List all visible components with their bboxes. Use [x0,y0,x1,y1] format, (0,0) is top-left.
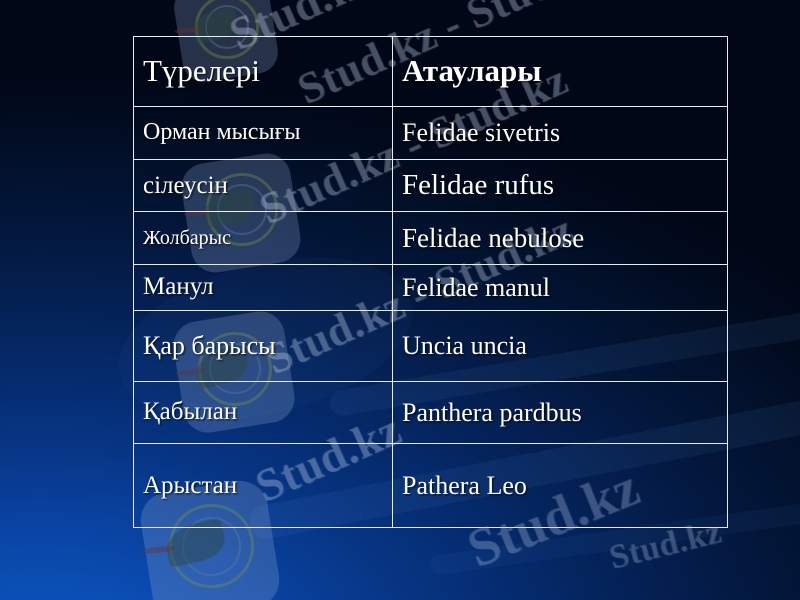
cell-species: Арыстан [134,444,393,528]
table-row: Қабылан Panthera pardbus [134,381,728,444]
cell-name: Pathera Leo [393,444,728,528]
cell-name: Felidae manul [393,264,728,310]
slide-canvas: Stud.kz Stud.kz - Stud.kz Stud.kz - Stud… [0,0,800,600]
table-row: Орман мысығы Felidae sivetris [134,106,728,159]
cell-species: сілеусін [134,159,393,211]
cell-species: Қар барысы [134,311,393,382]
cell-name: Uncia uncia [393,311,728,382]
cell-species: Манул [134,264,393,310]
table-row: сілеусін Felidae rufus [134,159,728,211]
table-row: Арыстан Pathera Leo [134,444,728,528]
table-header-row: Түрелері Атаулары [134,37,728,107]
cell-species: Орман мысығы [134,106,393,159]
cell-name: Felidae nebulose [393,212,728,264]
table-row: Жолбарыс Felidae nebulose [134,212,728,264]
cell-species: Қабылан [134,381,393,444]
table-row: Манул Felidae manul [134,264,728,310]
cell-name: Felidae rufus [393,159,728,211]
cell-name: Felidae sivetris [393,106,728,159]
cell-species: Жолбарыс [134,212,393,264]
table-row: Қар барысы Uncia uncia [134,311,728,382]
header-cell-species: Түрелері [134,37,393,107]
cell-name: Panthera pardbus [393,381,728,444]
species-table: Түрелері Атаулары Орман мысығы Felidae s… [133,36,728,528]
header-cell-names: Атаулары [393,37,728,107]
